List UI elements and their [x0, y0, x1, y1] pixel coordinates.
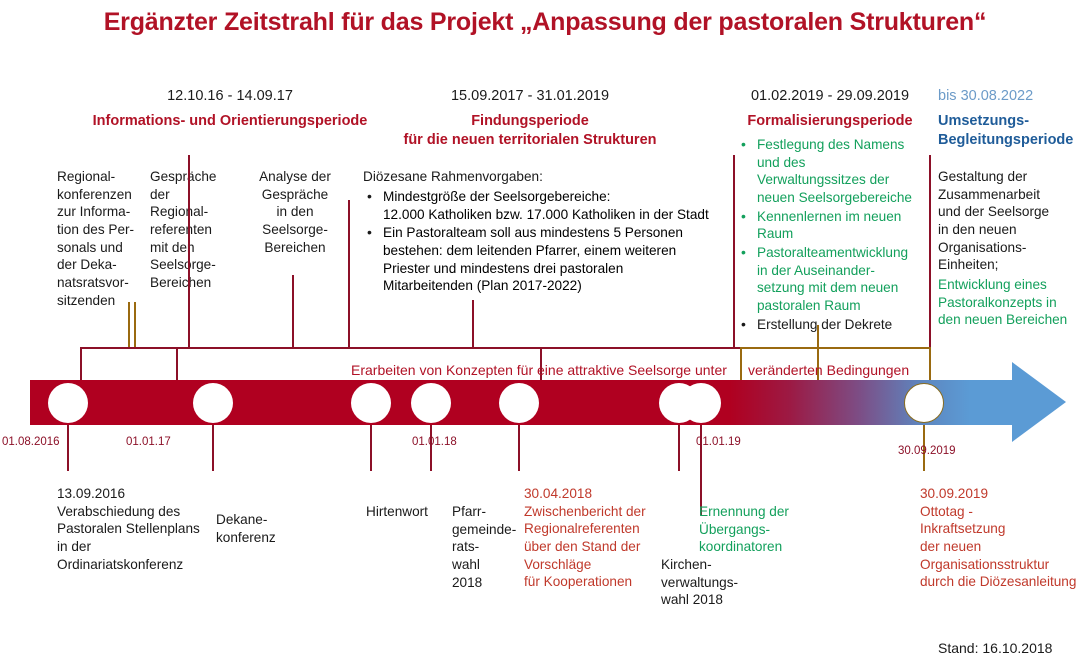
- stem-informations-divider: [188, 155, 190, 347]
- column-analyse-gespraeche: Analyse der Gespräche in den Seelsorge- …: [243, 168, 347, 256]
- formalisierung-bullets: Festlegung des Namens und des Verwaltung…: [737, 136, 927, 334]
- bullet-pastoralteam: Ein Pastoralteam soll aus mindestens 5 P…: [363, 224, 743, 295]
- bracket-end-right: [929, 347, 931, 382]
- stem-umsetzung-left: [929, 155, 931, 347]
- milestone-node-4[interactable]: [411, 383, 451, 423]
- umsetzung-body-green: Entwicklung eines Pastoralkonzepts in de…: [938, 276, 1090, 329]
- period-date-informations: 12.10.16 - 14.09.17: [110, 88, 350, 104]
- stem-findungsperiode-left: [348, 200, 350, 347]
- bullet-mindestgroesse: Mindestgröße der Seelsorgebereiche: 12.0…: [363, 188, 743, 223]
- bullet-festlegung-namen: Festlegung des Namens und des Verwaltung…: [737, 136, 927, 207]
- bracket-divider-mid: [740, 347, 742, 382]
- period-title-findungsperiode: Findungsperiode: [370, 112, 690, 131]
- callout-ottotag: 30.09.2019 Ottotag - Inkraftsetzung der …: [920, 485, 1090, 591]
- stem-gespraeche: [134, 302, 136, 347]
- page-title: Ergänzter Zeitstrahl für das Projekt „An…: [0, 8, 1090, 37]
- period-date-umsetzung: bis 30.08.2022: [938, 88, 1088, 104]
- tick-stem-5: [518, 425, 520, 471]
- callout-ernennung-uebergangskoordinatoren: Ernennung der Übergangs- koordinatoren: [699, 503, 819, 556]
- banner-text-right: veränderten Bedingungen: [748, 362, 909, 378]
- tick-stem-2: [212, 425, 214, 471]
- tick-date-4: 01.01.19: [696, 436, 741, 448]
- callout-pfarrgemeinderatswahl: Pfarr- gemeinde- rats- wahl 2018: [452, 503, 522, 591]
- callout-dekanekonferenz: Dekane- konferenz: [216, 511, 316, 546]
- tick-date-1: 01.08.2016: [2, 436, 60, 448]
- callout-zwischenbericht: 30.04.2018 Zwischenbericht der Regionalr…: [524, 485, 664, 591]
- column-gespraeche-regionalreferenten: Gespräche der Regional- referenten mit d…: [150, 168, 238, 292]
- milestone-node-7[interactable]: [681, 383, 721, 423]
- stem-formalisierung-left: [733, 155, 735, 347]
- tick-stem-6: [678, 425, 680, 471]
- findungsperiode-bullets: Mindestgröße der Seelsorgebereiche: 12.0…: [363, 188, 743, 296]
- tick-stem-3: [370, 425, 372, 471]
- bracket-line-right: [740, 347, 930, 349]
- milestone-node-3[interactable]: [351, 383, 391, 423]
- bracket-line-left: [80, 347, 740, 349]
- stem-findungsperiode-mid: [472, 300, 474, 347]
- milestone-node-1[interactable]: [48, 383, 88, 423]
- callout-verabschiedung-stellenplan: 13.09.2016 Verabschiedung des Pastoralen…: [57, 485, 217, 573]
- bracket-end-left: [80, 347, 82, 382]
- stem-analyse: [292, 275, 294, 347]
- umsetzung-body-black: Gestaltung der Zusammenarbeit und der Se…: [938, 168, 1088, 274]
- bullet-erstellung-dekrete: Erstellung der Dekrete: [737, 316, 927, 334]
- tick-date-2: 01.01.17: [126, 436, 171, 448]
- period-date-formalisierung: 01.02.2019 - 29.09.2019: [740, 88, 920, 104]
- milestone-node-8[interactable]: [904, 383, 944, 423]
- period-title-umsetzung: Umsetzungs- Begleitungsperiode: [938, 112, 1088, 150]
- timeline-diagram: Ergänzter Zeitstrahl für das Projekt „An…: [0, 0, 1090, 668]
- banner-text-left: Erarbeiten von Konzepten für eine attrak…: [351, 362, 727, 378]
- findungsperiode-intro: Diözesane Rahmenvorgaben:: [363, 168, 743, 186]
- bullet-kennenlernen: Kennenlernen im neuen Raum: [737, 208, 927, 243]
- callout-kirchenverwaltungswahl: Kirchen- verwaltungs- wahl 2018: [661, 556, 781, 609]
- period-title-informations: Informations- und Orientierungsperiode: [75, 112, 385, 131]
- bracket-drop-left: [176, 347, 178, 382]
- stem-regionalkonferenzen: [128, 302, 130, 347]
- tick-stem-1: [67, 425, 69, 471]
- bullet-pastoralteamentwicklung: Pastoralteamentwicklung in der Auseinand…: [737, 244, 927, 315]
- tick-stem-4: [430, 425, 432, 471]
- period-subtitle-findungsperiode: für die neuen territorialen Strukturen: [370, 131, 690, 150]
- milestone-node-2[interactable]: [193, 383, 233, 423]
- milestone-node-5[interactable]: [499, 383, 539, 423]
- timeline-arrowhead: [1012, 362, 1066, 442]
- period-date-findungsperiode: 15.09.2017 - 31.01.2019: [370, 88, 690, 104]
- callout-hirtenwort: Hirtenwort: [366, 503, 456, 521]
- column-regionalkonferenzen: Regional- konferenzen zur Informa- tion …: [57, 168, 145, 309]
- period-title-formalisierung: Formalisierungsperiode: [740, 112, 920, 131]
- tick-date-3: 01.01.18: [412, 436, 457, 448]
- tick-date-5: 30.09.2019: [898, 445, 956, 457]
- stand-date: Stand: 16.10.2018: [938, 640, 1052, 656]
